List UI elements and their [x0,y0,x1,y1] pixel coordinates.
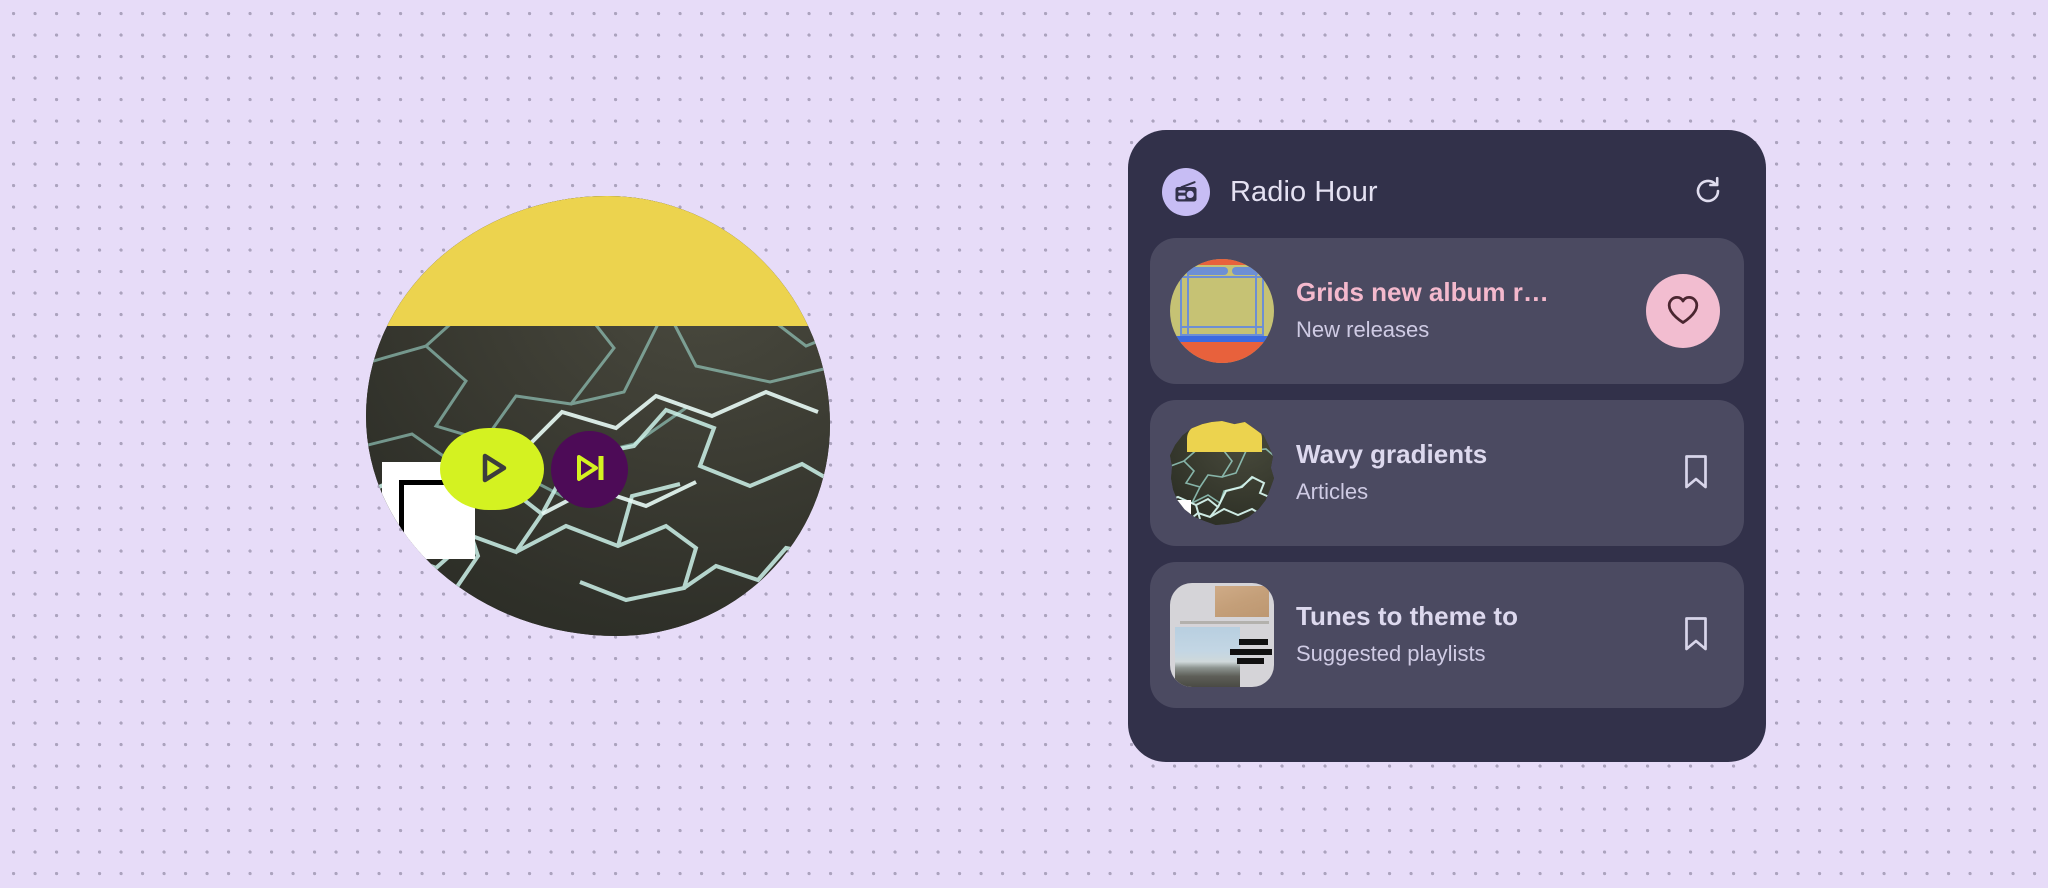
wavy-gradients-artwork [1170,421,1274,525]
row-text-block: Tunes to theme to Suggested playlists [1296,600,1660,670]
widget-header: Radio Hour [1150,156,1744,228]
artwork-yellow-band [366,196,830,326]
bookmark-icon [1680,615,1712,656]
radio-hour-widget: Radio Hour [1128,130,1766,762]
artwork-blob [366,196,830,636]
radio-icon [1162,168,1210,216]
grids-bottom-band [1170,342,1274,363]
heart-icon [1666,294,1700,329]
grids-artwork [1170,259,1274,363]
bookmark-icon [1680,453,1712,494]
row-subtitle: Articles [1296,476,1660,508]
hero-artwork [366,196,830,636]
row-subtitle: New releases [1296,314,1634,346]
skip-next-button[interactable] [551,431,628,508]
list-item[interactable]: Tunes to theme to Suggested playlists [1150,562,1744,708]
tunes-artwork [1170,583,1274,687]
row-text-block: Grids new album r… New releases [1296,276,1634,346]
tunes-text-bar [1230,649,1272,655]
bookmark-button[interactable] [1672,449,1720,497]
wavy-yellow-band [1187,421,1262,452]
row-thumbnail-wavy [1170,421,1274,525]
refresh-icon [1691,174,1725,211]
bookmark-button[interactable] [1672,611,1720,659]
list-item[interactable]: Wavy gradients Articles [1150,400,1744,546]
favorite-button[interactable] [1646,274,1720,348]
page-title: Radio Hour [1230,176,1686,209]
row-thumbnail-grids [1170,259,1274,363]
list-item[interactable]: Grids new album r… New releases [1150,238,1744,384]
tunes-text-bar [1237,658,1264,664]
tunes-divider [1180,621,1268,624]
wavy-white-notch [1174,500,1191,521]
row-text-block: Wavy gradients Articles [1296,438,1660,508]
tunes-text-bar [1239,639,1268,645]
tunes-sand-block [1215,586,1269,617]
row-title: Tunes to theme to [1296,600,1660,634]
play-icon [470,446,514,493]
refresh-button[interactable] [1686,170,1730,214]
skip-next-icon [570,448,610,491]
row-subtitle: Suggested playlists [1296,638,1660,670]
widget-list: Grids new album r… New releases [1150,238,1744,708]
row-thumbnail-tunes [1170,583,1274,687]
tunes-beach-photo [1175,627,1239,687]
play-button[interactable] [440,428,544,510]
row-title: Grids new album r… [1296,276,1634,310]
row-title: Wavy gradients [1296,438,1660,472]
